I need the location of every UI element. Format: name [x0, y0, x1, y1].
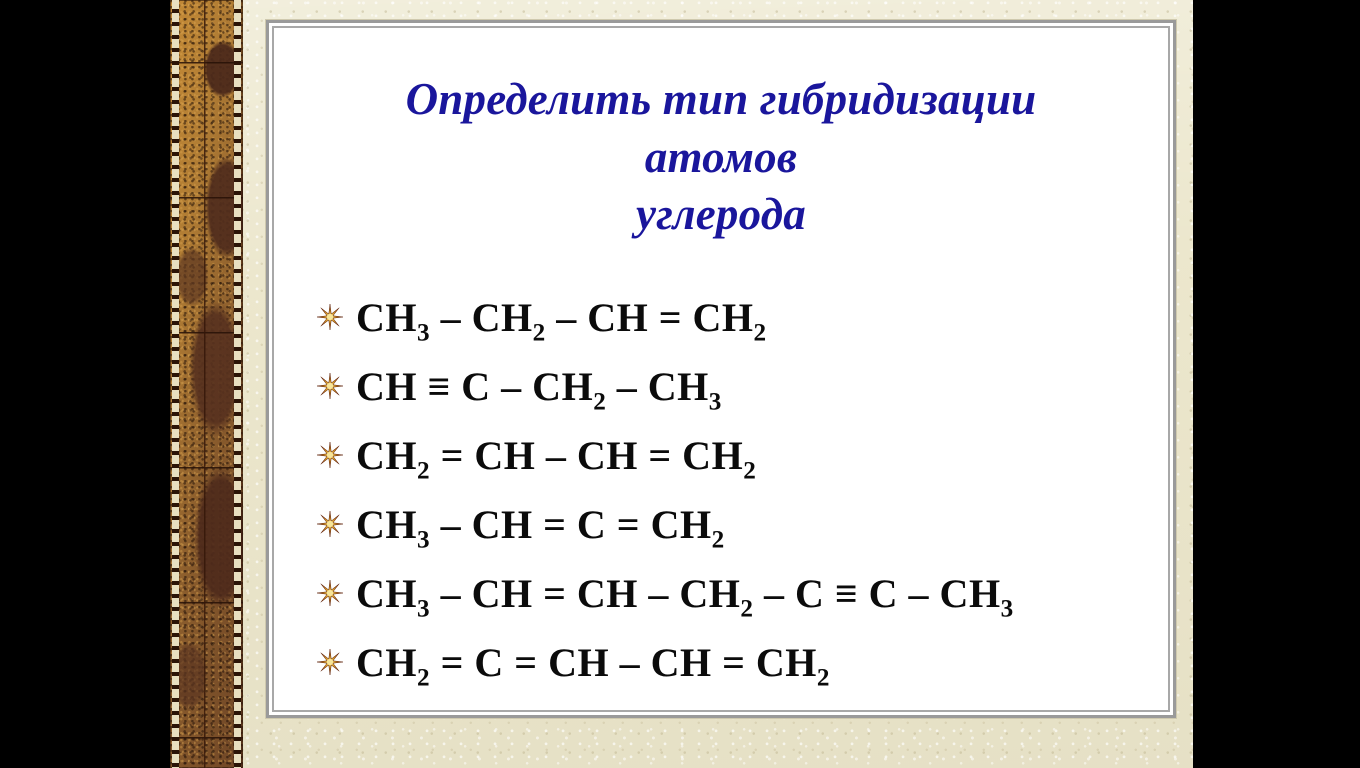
letterbox-left	[0, 0, 170, 768]
page-title: Определить тип гибридизации атомов углер…	[325, 71, 1117, 244]
star-burst-icon	[317, 511, 343, 537]
star-burst-icon	[317, 442, 343, 468]
formula-row: CH3 – CH = CH – CH2 – C ≡ C – CH3	[317, 560, 1163, 629]
slide-content-area: Определить тип гибридизации атомов углер…	[279, 33, 1163, 705]
slide-content-frame: Определить тип гибридизации атомов углер…	[266, 20, 1176, 718]
formula-list: CH3 – CH2 – CH = CH2CH ≡ C – CH2 – CH3CH…	[279, 284, 1163, 698]
formula-text: CH2 = C = CH – CH = CH2	[356, 643, 830, 683]
formula-row: CH ≡ C – CH2 – CH3	[317, 353, 1163, 422]
star-burst-icon	[317, 649, 343, 675]
star-burst-icon	[317, 580, 343, 606]
formula-row: CH2 = C = CH – CH = CH2	[317, 629, 1163, 698]
formula-row: CH3 – CH2 – CH = CH2	[317, 284, 1163, 353]
band-grid-lines	[170, 0, 243, 768]
formula-text: CH3 – CH = C = CH2	[356, 505, 725, 545]
formula-row: CH2 = CH – CH = CH2	[317, 422, 1163, 491]
star-burst-icon	[317, 373, 343, 399]
formula-text: CH ≡ C – CH2 – CH3	[356, 367, 722, 407]
formula-row: CH3 – CH = C = CH2	[317, 491, 1163, 560]
band-edge-right	[234, 0, 241, 768]
letterbox-right	[1193, 0, 1360, 768]
band-edge-left	[172, 0, 179, 768]
decorative-texture-band	[170, 0, 243, 768]
formula-text: CH2 = CH – CH = CH2	[356, 436, 756, 476]
presentation-slide: Определить тип гибридизации атомов углер…	[0, 0, 1360, 768]
formula-text: CH3 – CH2 – CH = CH2	[356, 298, 767, 338]
formula-text: CH3 – CH = CH – CH2 – C ≡ C – CH3	[356, 574, 1014, 614]
star-burst-icon	[317, 304, 343, 330]
